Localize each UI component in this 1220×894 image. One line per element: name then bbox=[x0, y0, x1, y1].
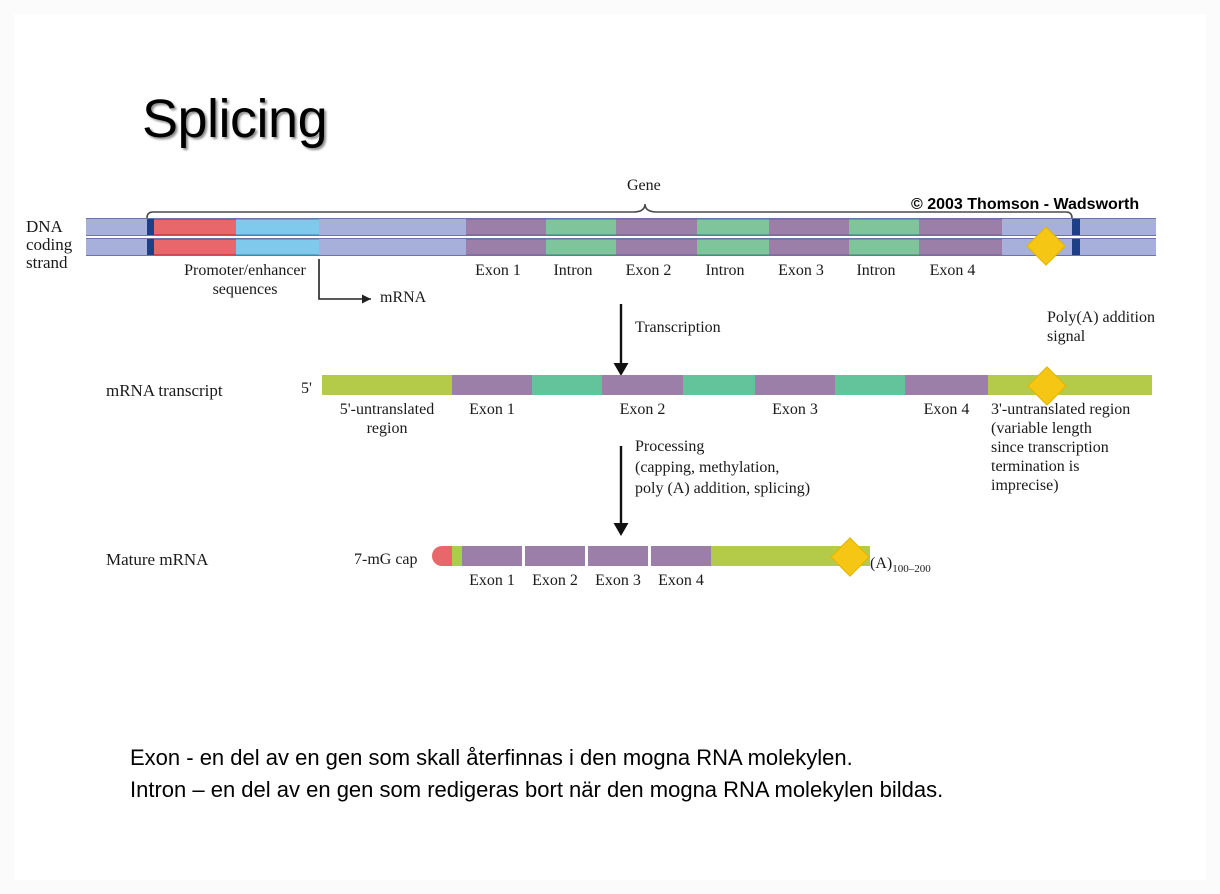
mature-caption-exon-3: Exon 3 bbox=[588, 572, 648, 591]
transcript-seg-exon-2 bbox=[602, 375, 683, 395]
dna-seg-downstream bbox=[1080, 239, 1156, 255]
processing-label-line3: poly (A) addition, splicing) bbox=[635, 480, 810, 499]
polyA-tail-subscript: 100–200 bbox=[892, 563, 931, 575]
polyA-signal-diamond-transcript bbox=[1027, 366, 1067, 406]
dna-strand-lower bbox=[86, 238, 1156, 256]
processing-label-line2: (capping, methylation, bbox=[635, 459, 779, 478]
dna-seg-exon-4 bbox=[919, 239, 1002, 255]
caption-exon-definition: Exon - en del av en gen som skall återfi… bbox=[130, 745, 853, 771]
dna-strand-upper bbox=[86, 218, 1156, 236]
mature-seg-exon-1 bbox=[462, 546, 522, 566]
dna-caption-intron-1: Intron bbox=[538, 262, 608, 281]
dna-seg-intron-3 bbox=[849, 239, 919, 255]
mature-caption-exon-2: Exon 2 bbox=[525, 572, 585, 591]
transcript-seg-utr3 bbox=[988, 375, 1152, 395]
utr3-label-line5: imprecise) bbox=[991, 477, 1059, 496]
page-title: Splicing bbox=[142, 88, 327, 150]
transcript-seg-exon-4 bbox=[905, 375, 988, 395]
dna-seg-leader bbox=[319, 219, 466, 235]
dna-seg-intron-1 bbox=[546, 219, 616, 235]
transcription-arrow-label: Transcription bbox=[635, 319, 721, 338]
mrna-arrow-label: mRNA bbox=[380, 289, 426, 308]
polyA-signal-diamond-mature bbox=[830, 537, 870, 577]
cap-label: 7-mG cap bbox=[354, 551, 418, 570]
dna-seg-end-marker bbox=[1072, 219, 1080, 235]
polyA-tail-text: (A) bbox=[870, 555, 892, 572]
dna-caption-exon-2: Exon 2 bbox=[608, 262, 689, 281]
transcript-caption-exon-4: Exon 4 bbox=[905, 401, 988, 420]
promoter-label-line1: Promoter/enhancer bbox=[139, 262, 351, 281]
dna-seg-intron-1 bbox=[546, 239, 616, 255]
dna-seg-exon-3 bbox=[769, 219, 849, 235]
page-background: Splicing © 2003 Thomson - Wadsworth DNA … bbox=[0, 0, 1220, 894]
slide-canvas: Splicing © 2003 Thomson - Wadsworth DNA … bbox=[14, 14, 1206, 880]
utr3-label-line2: (variable length bbox=[991, 420, 1092, 439]
dna-seg-enhancer bbox=[236, 239, 319, 255]
dna-seg-intron-3 bbox=[849, 219, 919, 235]
mature-seg-exon-3 bbox=[588, 546, 648, 566]
dna-seg-end-marker bbox=[1072, 239, 1080, 255]
dna-caption-intron-2: Intron bbox=[689, 262, 761, 281]
dna-seg-enhancer bbox=[236, 219, 319, 235]
caption-intron-definition: Intron – en del av en gen som redigeras … bbox=[130, 777, 943, 803]
dna-seg-exon-1 bbox=[466, 219, 546, 235]
dna-caption-exon-3: Exon 3 bbox=[761, 262, 841, 281]
dna-seg-intron-2 bbox=[697, 239, 769, 255]
mature-mrna-bar bbox=[432, 546, 870, 566]
mrna-transcript-label: mRNA transcript bbox=[106, 381, 223, 401]
mature-seg-7mg-cap bbox=[432, 546, 452, 566]
mature-seg-exon-2 bbox=[525, 546, 585, 566]
transcript-seg-intron-3 bbox=[835, 375, 905, 395]
dna-seg-intron-2 bbox=[697, 219, 769, 235]
dna-seg-promoter bbox=[154, 239, 236, 255]
mature-caption-exon-1: Exon 1 bbox=[462, 572, 522, 591]
utr5-label-line2: region bbox=[332, 420, 442, 439]
dna-label-line1: DNA bbox=[26, 217, 63, 237]
processing-label-line1: Processing bbox=[635, 438, 704, 457]
dna-seg-promoter bbox=[154, 219, 236, 235]
dna-seg-start-marker bbox=[147, 219, 154, 235]
dna-seg-exon-1 bbox=[466, 239, 546, 255]
dna-caption-exon-4: Exon 4 bbox=[911, 262, 994, 281]
transcript-seg-utr5 bbox=[322, 375, 452, 395]
utr5-label-line1: 5'-untranslated bbox=[332, 401, 442, 420]
mature-seg-cap-linker bbox=[452, 546, 462, 566]
mature-caption-exon-4: Exon 4 bbox=[651, 572, 711, 591]
dna-seg-exon-2 bbox=[616, 219, 697, 235]
dna-seg-leader bbox=[319, 239, 466, 255]
transcript-caption-exon-1: Exon 1 bbox=[452, 401, 532, 420]
dna-seg-exon-4 bbox=[919, 219, 1002, 235]
polyA-label-line1: Poly(A) addition bbox=[1047, 309, 1155, 328]
transcript-seg-intron-2 bbox=[683, 375, 755, 395]
utr3-label-line1: 3'-untranslated region bbox=[991, 401, 1130, 420]
transcript-seg-exon-3 bbox=[755, 375, 835, 395]
utr3-label-line4: termination is bbox=[991, 458, 1079, 477]
dna-seg-exon-3 bbox=[769, 239, 849, 255]
dna-caption-intron-3: Intron bbox=[841, 262, 911, 281]
five-prime-label: 5' bbox=[301, 380, 312, 399]
dna-seg-exon-2 bbox=[616, 239, 697, 255]
dna-seg-trailer bbox=[1002, 219, 1072, 235]
dna-seg-upstream bbox=[86, 239, 147, 255]
dna-seg-upstream bbox=[86, 219, 147, 235]
utr3-label-line3: since transcription bbox=[991, 439, 1109, 458]
copyright-notice: © 2003 Thomson - Wadsworth bbox=[911, 196, 1139, 214]
transcript-caption-exon-3: Exon 3 bbox=[755, 401, 835, 420]
transcript-seg-exon-1 bbox=[452, 375, 532, 395]
transcript-seg-intron-1 bbox=[532, 375, 602, 395]
gene-bracket-label: Gene bbox=[627, 177, 661, 196]
promoter-label-line2: sequences bbox=[139, 281, 351, 300]
transcript-caption-exon-2: Exon 2 bbox=[602, 401, 683, 420]
dna-caption-exon-1: Exon 1 bbox=[458, 262, 538, 281]
polyA-tail-label: (A)100–200 bbox=[870, 555, 931, 576]
dna-seg-start-marker bbox=[147, 239, 154, 255]
mature-seg-exon-4 bbox=[651, 546, 711, 566]
dna-label-line2: coding bbox=[26, 235, 72, 255]
mature-mrna-label: Mature mRNA bbox=[106, 550, 208, 570]
dna-seg-downstream bbox=[1080, 219, 1156, 235]
polyA-label-line2: signal bbox=[1047, 328, 1085, 347]
dna-label-line3: strand bbox=[26, 253, 68, 273]
